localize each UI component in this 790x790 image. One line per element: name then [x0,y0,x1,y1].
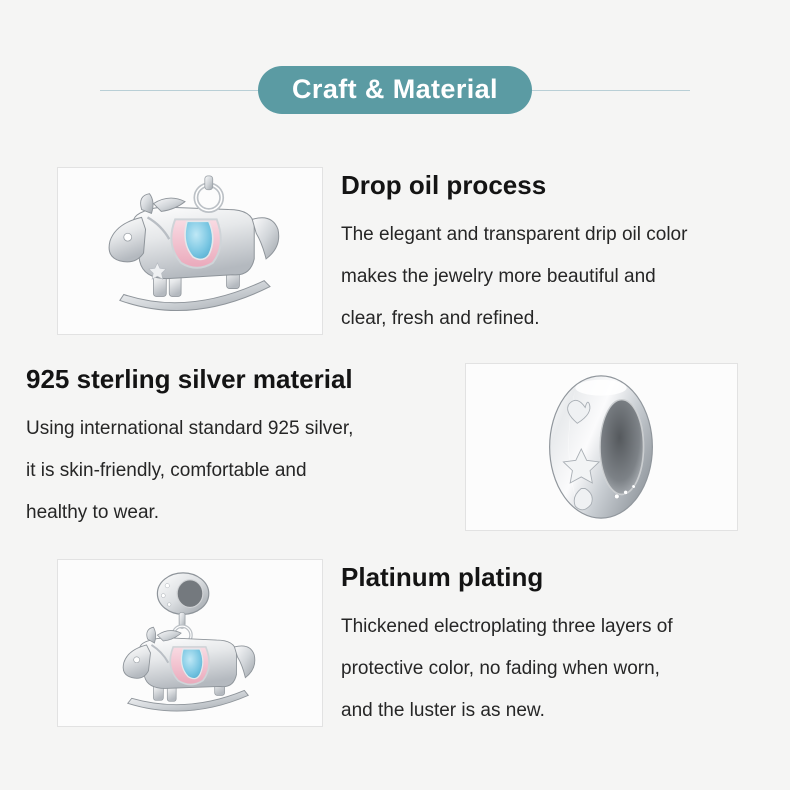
feature-body: Thickened electroplating three layers of… [341,606,790,732]
feature-row-drop-oil-process: Drop oil process The elegant and transpa… [57,167,790,340]
feature-body-line: Using international standard 925 silver, [26,408,456,450]
header-rule-left [100,90,280,91]
feature-body-line: clear, fresh and refined. [341,298,790,340]
feature-body-line: protective color, no fading when worn, [341,648,790,690]
feature-body-line: healthy to wear. [26,492,456,534]
feature-body-line: Thickened electroplating three layers of [341,606,790,648]
feature-copy-925-sterling-silver-material: 925 sterling silver material Using inter… [26,363,456,534]
feature-body-line: The elegant and transparent drip oil col… [341,214,790,256]
feature-body-line: and the luster is as new. [341,690,790,732]
rocking-horse-dangle-illustration [58,560,322,726]
section-header: Craft & Material [0,62,790,118]
silver-spacer-ring-illustration [466,364,737,530]
feature-body-line: it is skin-friendly, comfortable and [26,450,456,492]
product-image-silver-spacer-ring [465,363,738,531]
section-title-badge: Craft & Material [258,66,532,114]
feature-copy-platinum-plating: Platinum plating Thickened electroplatin… [341,559,790,732]
feature-heading: Drop oil process [341,171,790,200]
rocking-horse-charm-illustration [58,168,322,334]
header-rule-right [510,90,690,91]
feature-row-platinum-plating: Platinum plating Thickened electroplatin… [57,559,790,732]
feature-body: The elegant and transparent drip oil col… [341,214,790,340]
product-image-rocking-horse-charm [57,167,323,335]
feature-heading: 925 sterling silver material [26,365,456,394]
feature-copy-drop-oil-process: Drop oil process The elegant and transpa… [341,167,790,340]
feature-row-925-sterling-silver-material: 925 sterling silver material Using inter… [26,363,738,534]
feature-body-line: makes the jewelry more beautiful and [341,256,790,298]
product-image-rocking-horse-dangle [57,559,323,727]
feature-heading: Platinum plating [341,563,790,592]
feature-body: Using international standard 925 silver,… [26,408,456,534]
